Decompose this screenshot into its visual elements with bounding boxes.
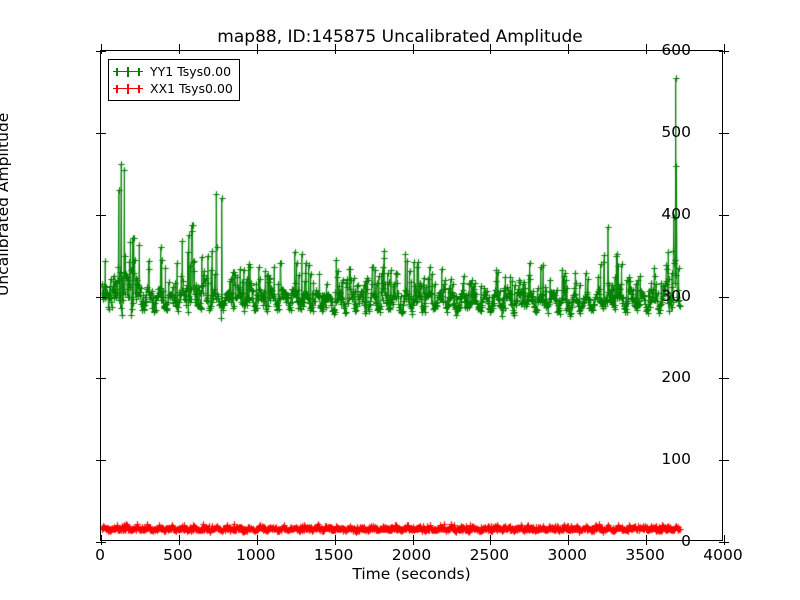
x-axis-tick-label: 3500 <box>625 546 664 564</box>
y-axis-tick-right <box>719 215 729 216</box>
x-axis-tick-top <box>257 44 258 54</box>
x-axis-tick <box>413 535 414 545</box>
x-axis-tick-label: 1000 <box>236 546 275 564</box>
x-axis-tick-top <box>413 44 414 54</box>
x-axis-tick-label: 3000 <box>548 546 587 564</box>
x-axis-tick <box>490 535 491 545</box>
x-axis-tick-label: 500 <box>163 546 193 564</box>
legend-line-sample-xx1 <box>113 82 143 96</box>
x-axis-tick-label: 2000 <box>392 546 431 564</box>
legend-label-yy1: YY1 Tsys0.00 <box>150 64 231 79</box>
y-axis-tick <box>96 215 106 216</box>
y-axis-tick-label: 200 <box>661 368 691 386</box>
y-axis-tick-label: 600 <box>661 41 691 59</box>
x-axis-tick-top <box>101 44 102 54</box>
y-axis-tick <box>96 297 106 298</box>
legend: YY1 Tsys0.00 XX1 Tsys0.00 <box>108 59 240 101</box>
x-axis-tick-label: 2500 <box>470 546 509 564</box>
y-axis-tick-label: 100 <box>661 450 691 468</box>
x-axis-tick-top <box>646 44 647 54</box>
x-axis-tick-top <box>568 44 569 54</box>
x-axis-tick-top <box>490 44 491 54</box>
x-axis-tick-top <box>179 44 180 54</box>
plot-data-canvas <box>101 51 724 542</box>
y-axis-tick-label: 0 <box>681 532 691 550</box>
x-axis-tick <box>568 535 569 545</box>
y-axis-tick-right <box>719 297 729 298</box>
x-axis-label: Time (seconds) <box>100 565 723 583</box>
x-axis-tick <box>179 535 180 545</box>
y-axis-tick-right <box>719 378 729 379</box>
y-axis-tick-label: 400 <box>661 205 691 223</box>
x-axis-tick-top <box>724 44 725 54</box>
x-axis-tick <box>724 535 725 545</box>
x-axis-tick-top <box>335 44 336 54</box>
x-axis-tick <box>101 535 102 545</box>
x-axis-tick <box>335 535 336 545</box>
plot-axes: YY1 Tsys0.00 XX1 Tsys0.00 <box>100 50 723 541</box>
y-axis-tick <box>96 378 106 379</box>
y-axis-tick <box>96 460 106 461</box>
legend-item-xx1: XX1 Tsys0.00 <box>113 80 233 97</box>
y-axis-tick-label: 300 <box>661 287 691 305</box>
matplotlib-figure: map88, ID:145875 Uncalibrated Amplitude … <box>0 0 800 600</box>
y-axis-tick <box>96 133 106 134</box>
x-axis-tick-label: 1500 <box>314 546 353 564</box>
x-axis-tick-label: 4000 <box>703 546 742 564</box>
legend-label-xx1: XX1 Tsys0.00 <box>150 81 233 96</box>
y-axis-tick-label: 500 <box>661 123 691 141</box>
x-axis-tick <box>646 535 647 545</box>
legend-line-sample-yy1 <box>113 65 143 79</box>
x-axis-tick-label: 0 <box>95 546 105 564</box>
x-axis-tick <box>257 535 258 545</box>
y-axis-label: Uncalibrated Amplitude <box>0 113 12 296</box>
y-axis-tick-right <box>719 460 729 461</box>
y-axis-tick-right <box>719 133 729 134</box>
legend-item-yy1: YY1 Tsys0.00 <box>113 63 233 80</box>
